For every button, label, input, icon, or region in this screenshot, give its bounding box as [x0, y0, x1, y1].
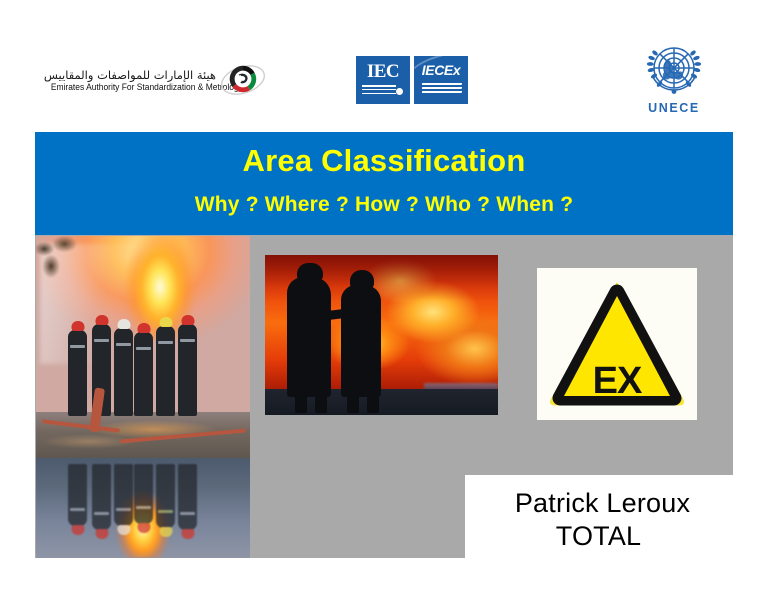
firefighter-leg	[295, 391, 307, 413]
iecex-logo: IECEx	[414, 56, 468, 104]
slide-title: Area Classification	[35, 143, 733, 179]
unece-logo: UNECE	[628, 40, 720, 122]
firefighter-leg	[347, 391, 359, 413]
firefighter-reflection	[156, 464, 175, 528]
iecex-lines-icon	[422, 83, 462, 96]
ex-label: EX	[537, 362, 697, 400]
firefighter	[156, 326, 175, 416]
slide-root: هيئة الإمارات للمواصفات والمقاييس Emirat…	[0, 0, 768, 593]
emirates-authority-arabic-label: هيئة الإمارات للمواصفات والمقاييس	[44, 68, 216, 82]
firefighter	[134, 332, 153, 416]
emirates-authority-text: هيئة الإمارات للمواصفات والمقاييس Emirat…	[44, 68, 220, 93]
firefighter-leg	[315, 391, 327, 413]
un-emblem-icon	[637, 40, 711, 100]
ex-warning-sign: EX	[537, 268, 697, 420]
logo-bar: هيئة الإمارات للمواصفات والمقاييس Emirat…	[0, 0, 768, 132]
firefighter-reflection	[134, 464, 153, 524]
author-name: Patrick Leroux	[465, 487, 768, 520]
firefighter-reflection-group	[66, 464, 202, 534]
firefighter	[68, 330, 87, 416]
iecex-logo-label: IECEx	[414, 63, 468, 77]
photo-firefighters-hose	[36, 236, 250, 558]
firefighter	[114, 328, 133, 416]
photo-firefighter-silhouettes	[265, 255, 498, 415]
author-organization: TOTAL	[465, 520, 768, 553]
iec-dot-icon	[396, 88, 403, 95]
author-box: Patrick Leroux TOTAL	[465, 475, 768, 571]
emirates-authority-english-label: Emirates Authority For Standardization &…	[51, 82, 216, 93]
firefighter-leg	[367, 391, 379, 413]
firefighter-reflection	[114, 464, 133, 526]
firefighter-group	[66, 286, 202, 416]
firefighter-reflection	[92, 464, 111, 530]
emirates-authority-logo: هيئة الإمارات للمواصفات والمقاييس Emirat…	[44, 56, 264, 104]
slide-subtitle: Why ? Where ? How ? Who ? When ?	[35, 192, 733, 218]
iec-lines-icon	[362, 85, 396, 95]
firefighter-reflection	[178, 464, 197, 530]
emirates-falcon-emblem-icon	[220, 59, 266, 101]
firefighter-silhouette	[287, 277, 331, 397]
firefighter-reflection	[68, 464, 87, 526]
unece-logo-label: UNECE	[628, 101, 720, 115]
iec-logo: IEC	[356, 56, 410, 104]
firefighter	[178, 324, 197, 416]
title-banner: Area Classification Why ? Where ? How ? …	[35, 132, 733, 235]
firefighter-silhouette	[341, 285, 381, 397]
iec-logo-group: IEC IECEx	[356, 56, 472, 104]
iec-logo-label: IEC	[356, 62, 410, 81]
